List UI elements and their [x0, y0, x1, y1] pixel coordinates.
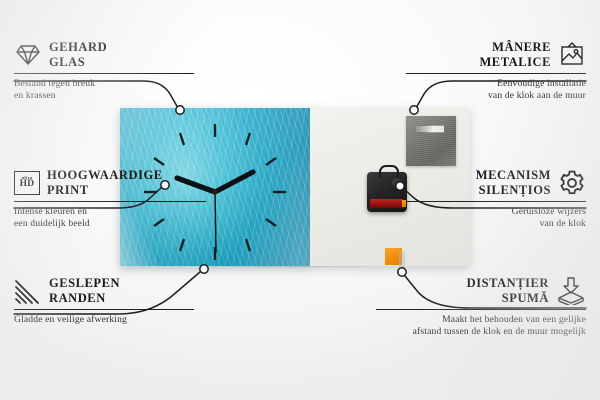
diamond-icon	[14, 43, 42, 67]
divider	[376, 309, 586, 310]
feature-gehard-glas: GEHARD GLAS Bestand tegen breuk en krass…	[14, 40, 194, 102]
feature-description: Geruisloze wijzers van de klok	[406, 206, 586, 231]
desc-line-2: van de klok aan de muur	[406, 90, 586, 102]
ultra-hd-icon: ultra HD	[14, 171, 40, 195]
feature-description: Bestand tegen breuk en krassen	[14, 78, 194, 103]
divider	[406, 73, 586, 74]
desc-line-1: Bestand tegen breuk	[14, 78, 194, 90]
title-line-1: GESLEPEN	[49, 276, 120, 291]
feature-mecanism-silentios: MECANISM SILENȚIOS Geruisloze wijzers va…	[406, 168, 586, 230]
gear-icon	[558, 169, 586, 197]
infographic-canvas: GEHARD GLAS Bestand tegen breuk en krass…	[0, 0, 600, 400]
desc-line-1: Eenvoudige installatie	[406, 78, 586, 90]
feature-title: GESLEPEN RANDEN	[49, 276, 120, 306]
feature-header: GESLEPEN RANDEN	[14, 276, 194, 306]
title-line-2: GLAS	[49, 55, 107, 70]
picture-hanger-icon	[558, 42, 586, 68]
feature-description: Eenvoudige installatie van de klok aan d…	[406, 78, 586, 103]
title-line-1: GEHARD	[49, 40, 107, 55]
desc-line-1: Gladde en veilige afwerking	[14, 314, 194, 326]
feature-header: DISTANȚIER SPUMĂ	[376, 276, 586, 306]
desc-line-2: en krassen	[14, 90, 194, 102]
feature-title: GEHARD GLAS	[49, 40, 107, 70]
feature-header: ultra HD HOOGWAARDIGE PRINT	[14, 168, 206, 198]
feature-hoogwaardige-print: ultra HD HOOGWAARDIGE PRINT Intense kleu…	[14, 168, 206, 230]
feature-description: Intense kleuren en een duidelijk beeld	[14, 206, 206, 231]
feature-description: Gladde en veilige afwerking	[14, 314, 194, 326]
feature-header: MÂNERE METALICE	[406, 40, 586, 70]
feature-title: DISTANȚIER SPUMĂ	[467, 276, 549, 306]
desc-line-1: Geruisloze wijzers	[406, 206, 586, 218]
feature-title: MÂNERE METALICE	[479, 40, 551, 70]
feature-geslepen-randen: GESLEPEN RANDEN Gladde en veilige afwerk…	[14, 276, 194, 326]
spacer-stack-icon	[556, 277, 586, 305]
desc-line-2: afstand tussen de klok en de muur mogeli…	[376, 326, 586, 338]
desc-line-2: een duidelijk beeld	[14, 218, 206, 230]
title-line-1: DISTANȚIER	[467, 276, 549, 291]
divider	[14, 73, 194, 74]
title-line-2: METALICE	[479, 55, 551, 70]
feature-manere-metalice: MÂNERE METALICE Eenvoudige installatie v…	[406, 40, 586, 102]
title-line-2: PRINT	[47, 183, 163, 198]
feature-title: MECANISM SILENȚIOS	[476, 168, 551, 198]
feature-title: HOOGWAARDIGE PRINT	[47, 168, 163, 198]
divider	[14, 201, 206, 202]
hd-label: HD	[20, 180, 35, 190]
title-line-1: HOOGWAARDIGE	[47, 168, 163, 183]
title-line-2: SPUMĂ	[467, 291, 549, 306]
feature-description: Maakt het behouden van een gelijke afsta…	[376, 314, 586, 339]
beveled-edges-icon	[14, 278, 42, 304]
title-line-1: MECANISM	[476, 168, 551, 183]
title-line-2: SILENȚIOS	[476, 183, 551, 198]
desc-line-2: van de klok	[406, 218, 586, 230]
desc-line-1: Maakt het behouden van een gelijke	[376, 314, 586, 326]
feature-header: MECANISM SILENȚIOS	[406, 168, 586, 198]
divider	[14, 309, 194, 310]
title-line-2: RANDEN	[49, 291, 120, 306]
desc-line-1: Intense kleuren en	[14, 206, 206, 218]
divider	[406, 201, 586, 202]
feature-header: GEHARD GLAS	[14, 40, 194, 70]
title-line-1: MÂNERE	[479, 40, 551, 55]
feature-distantier-spuma: DISTANȚIER SPUMĂ Maakt het behouden van …	[376, 276, 586, 338]
